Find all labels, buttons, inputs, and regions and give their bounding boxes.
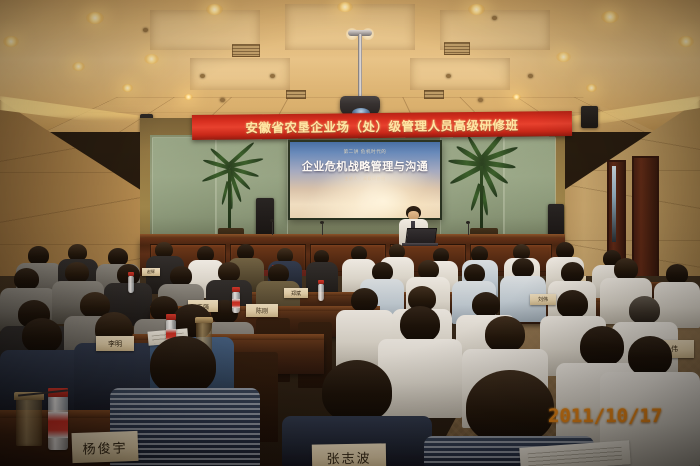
tea-jar (16, 398, 42, 446)
name-card-text: 杨俊宇 (82, 437, 128, 458)
ceiling-air-vent (232, 44, 260, 57)
downlight (601, 11, 619, 23)
downlight (512, 94, 521, 100)
water-bottle (128, 276, 134, 293)
smoke-detector (446, 74, 451, 78)
banner-title-text: 安徽省农垦企业场（处）级管理人员高级研修班 (245, 115, 518, 137)
name-card-text: 张志波 (326, 447, 371, 466)
bottle-cap (128, 272, 134, 276)
name-card-text: 陈刚 (256, 306, 268, 315)
smoke-detector (270, 74, 275, 78)
projector-mount-pole (358, 34, 362, 100)
smoke-detector (143, 28, 148, 32)
ceiling-air-vent (286, 90, 306, 99)
name-card-front-center: 张志波 (312, 443, 386, 466)
microphone-head-icon (466, 221, 470, 224)
bottle-cap (232, 287, 240, 292)
downlight (122, 84, 133, 92)
microphone (322, 224, 323, 235)
downlight (144, 54, 159, 64)
ceiling-coffer (410, 58, 510, 90)
name-card-text: 郑斌 (291, 290, 301, 297)
bottle-label (48, 412, 68, 438)
smoke-detector (528, 74, 533, 78)
bottle-cap (166, 314, 176, 320)
downlight (337, 2, 353, 12)
downlight (3, 36, 19, 47)
bottle-cap (318, 280, 324, 284)
conference-room-photo: 安徽省农垦企业场（处）级管理人员高级研修班 第二讲 危机时代的 企业危机战略管理… (0, 0, 700, 466)
smoke-detector (200, 74, 205, 78)
downlight (206, 4, 223, 15)
downlight (72, 62, 85, 71)
door-gap-light (612, 166, 616, 242)
microphone (468, 224, 469, 235)
name-card: 郑斌 (284, 288, 308, 298)
water-bottle (318, 284, 324, 301)
ceiling-air-vent (444, 42, 470, 55)
microphone-head-icon (320, 221, 324, 224)
potted-palm-left (196, 152, 266, 244)
downlight (184, 94, 193, 100)
slide-subtitle: 第二讲 危机时代的 (290, 149, 440, 155)
name-card-front-left: 杨俊宇 (71, 431, 138, 463)
microphone-head-icon (270, 219, 274, 222)
microphone (272, 222, 273, 235)
smoke-detector (492, 16, 497, 20)
potted-palm-right (446, 148, 524, 246)
ceiling-coffer (190, 58, 290, 90)
name-card: 陈刚 (246, 304, 278, 317)
downlight (586, 84, 597, 92)
downlight (678, 36, 694, 47)
event-banner: 安徽省农垦企业场（处）级管理人员高级研修班 (192, 111, 572, 140)
wall-speaker (581, 106, 598, 128)
camera-date-stamp: 2011/10/17 (548, 405, 662, 427)
smoke-detector (478, 98, 483, 102)
downlight (468, 4, 485, 15)
downlight (556, 52, 571, 62)
smoke-detector (220, 98, 225, 102)
ceiling-air-vent (424, 90, 444, 99)
tea-jar-lid (195, 317, 213, 323)
downlight (86, 12, 104, 24)
